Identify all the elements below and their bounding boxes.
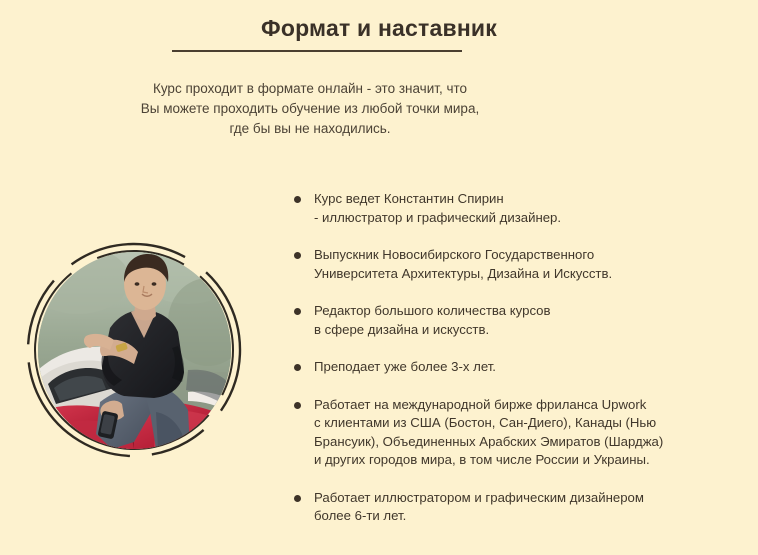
list-item: Преподает уже более 3-х лет.: [292, 358, 744, 377]
bullet-dot-icon: [294, 252, 301, 259]
intro-line-1: Курс проходит в формате онлайн - это зна…: [0, 79, 620, 99]
page-title: Формат и наставник: [0, 14, 758, 42]
bullet-line: Выпускник Новосибирского Государственног…: [314, 246, 744, 265]
slide-root: Формат и наставник Курс проходит в форма…: [0, 0, 758, 555]
slide-header: Формат и наставник: [0, 14, 758, 42]
bullet-dot-icon: [294, 402, 301, 409]
bullet-line: Университета Архитектуры, Дизайна и Иску…: [314, 265, 744, 284]
bullet-line: - иллюстратор и графический дизайнер.: [314, 209, 744, 228]
list-item: Работает на международной бирже фриланса…: [292, 396, 744, 470]
list-item: Редактор большого количества курсов в сф…: [292, 302, 744, 339]
mentor-photo: [38, 252, 231, 449]
bullet-dot-icon: [294, 364, 301, 371]
mentor-portrait: [22, 240, 246, 464]
bullet-line: с клиентами из США (Бостон, Сан-Диего), …: [314, 414, 744, 433]
mentor-facts-list: Курс ведет Константин Спирин - иллюстрат…: [292, 190, 744, 526]
bullet-line: более 6-ти лет.: [314, 507, 744, 526]
intro-paragraph: Курс проходит в формате онлайн - это зна…: [0, 79, 620, 139]
list-item: Курс ведет Константин Спирин - иллюстрат…: [292, 190, 744, 227]
bullet-dot-icon: [294, 308, 301, 315]
bullet-line: Работает на международной бирже фриланса…: [314, 396, 744, 415]
list-item: Выпускник Новосибирского Государственног…: [292, 246, 744, 283]
intro-line-3: где бы вы не находились.: [0, 119, 620, 139]
bullet-line: Работает иллюстратором и графическим диз…: [314, 489, 744, 508]
intro-line-2: Вы можете проходить обучение из любой то…: [0, 99, 620, 119]
bullet-dot-icon: [294, 495, 301, 502]
bullet-line: в сфере дизайна и искусств.: [314, 321, 744, 340]
mentor-photo-image: [38, 252, 231, 449]
bullet-line: Курс ведет Константин Спирин: [314, 190, 744, 209]
title-underline-rule: [172, 50, 462, 52]
bullet-line: Брансуик), Объединенных Арабских Эмирато…: [314, 433, 744, 452]
bullet-dot-icon: [294, 196, 301, 203]
bullet-line: и других городов мира, в том числе Росси…: [314, 451, 744, 470]
bullet-line: Преподает уже более 3-х лет.: [314, 358, 744, 377]
bullet-line: Редактор большого количества курсов: [314, 302, 744, 321]
list-item: Работает иллюстратором и графическим диз…: [292, 489, 744, 526]
